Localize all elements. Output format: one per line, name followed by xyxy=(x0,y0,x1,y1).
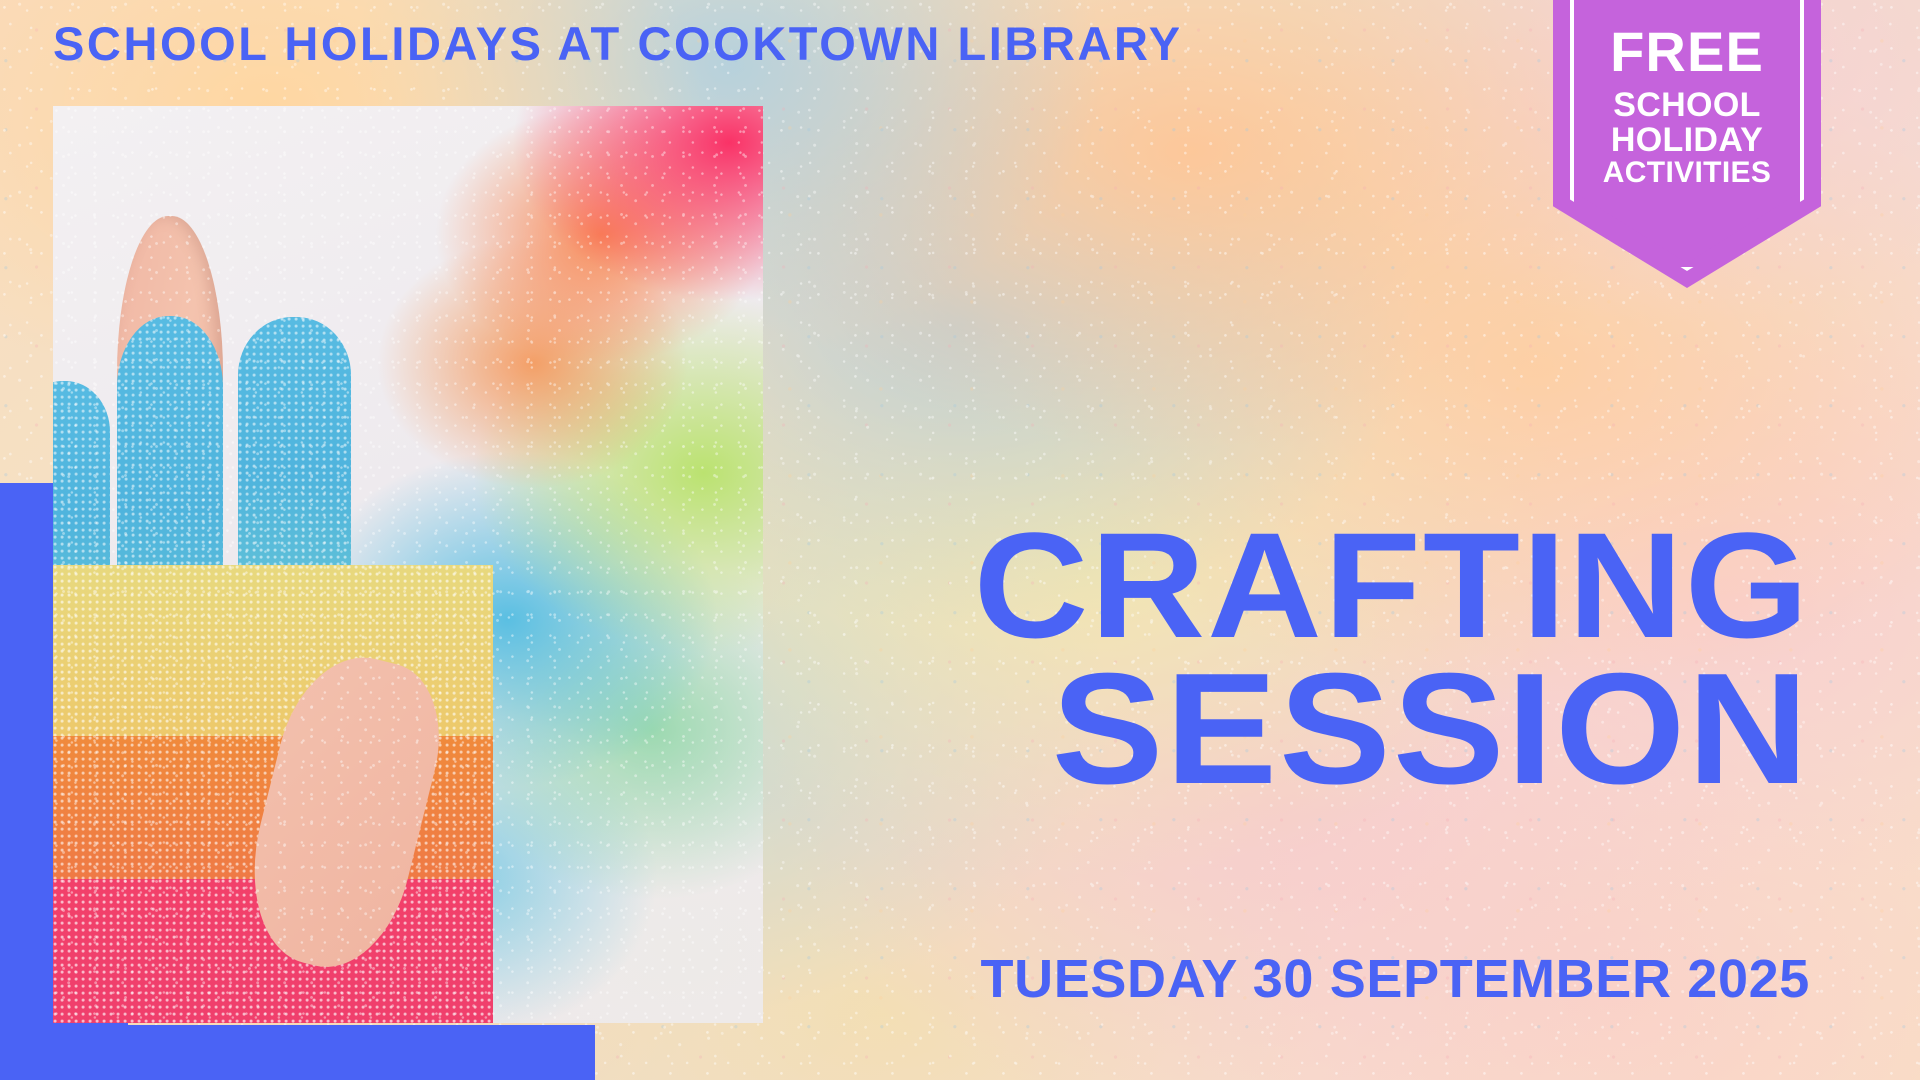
badge-text-group: FREE SCHOOL HOLIDAY ACTIVITIES xyxy=(1553,24,1821,189)
badge-subtitle-line-1: SCHOOL xyxy=(1553,88,1821,123)
headline-line-1: CRAFTING xyxy=(973,516,1810,656)
free-activities-badge: FREE SCHOOL HOLIDAY ACTIVITIES xyxy=(1553,0,1821,288)
poster-canvas: SCHOOL HOLIDAYS AT COOKTOWN LIBRARY FREE… xyxy=(0,0,1920,1080)
event-date: TUESDAY 30 SEPTEMBER 2025 xyxy=(980,948,1810,1010)
badge-subtitle: SCHOOL HOLIDAY ACTIVITIES xyxy=(1553,88,1821,189)
badge-free-label: FREE xyxy=(1553,24,1821,80)
photo-inner xyxy=(53,106,763,1023)
photo-glitter-grain xyxy=(53,106,763,1023)
headline-line-2: SESSION xyxy=(973,656,1810,803)
event-headline: CRAFTING SESSION xyxy=(1021,516,1810,802)
decorative-blue-block-bottom xyxy=(0,1025,595,1080)
badge-subtitle-line-3: ACTIVITIES xyxy=(1553,158,1821,189)
page-title: SCHOOL HOLIDAYS AT COOKTOWN LIBRARY xyxy=(53,16,1183,71)
badge-subtitle-line-2: HOLIDAY xyxy=(1553,123,1821,158)
glitter-hand-photo xyxy=(53,106,763,1023)
